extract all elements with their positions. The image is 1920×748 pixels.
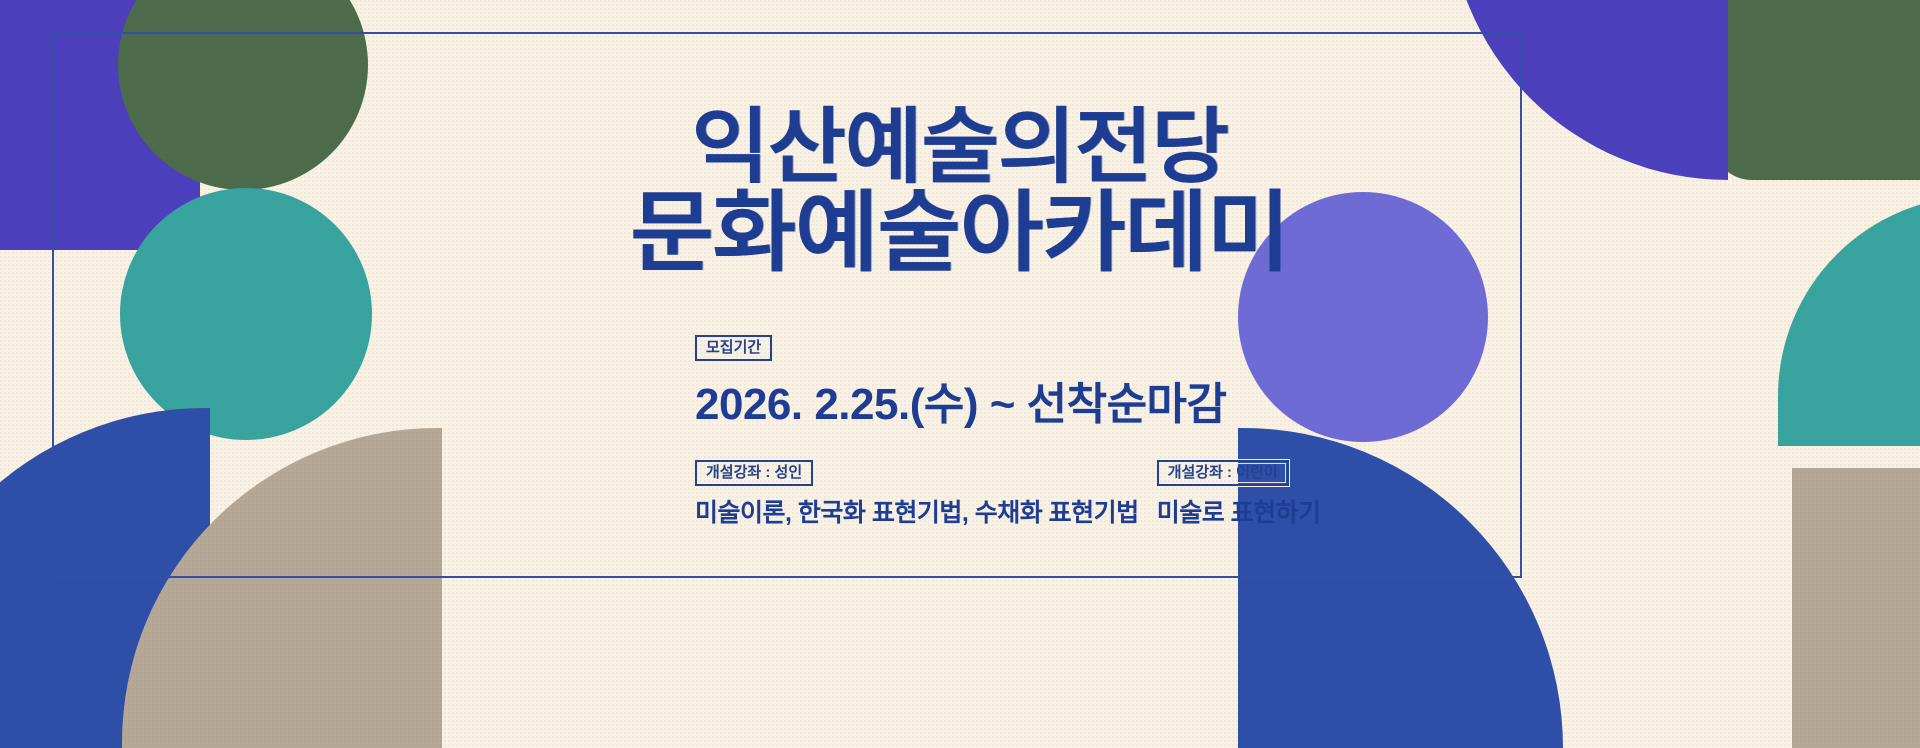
- course-list: 개설강좌 : 성인 미술이론, 한국화 표현기법, 수채화 표현기법 개설강좌 …: [225, 460, 1695, 529]
- course-text-children: 미술로 표현하기: [1157, 493, 1321, 529]
- recruitment-period-date: 2026. 2.25.(수) ~ 선착순마감: [695, 368, 1227, 432]
- course-text-adult: 미술이론, 한국화 표현기법, 수채화 표현기법: [695, 493, 1139, 529]
- course-badge-children: 개설강좌 : 어린이: [1157, 460, 1289, 486]
- course-group-adult: 개설강좌 : 성인 미술이론, 한국화 표현기법, 수채화 표현기법: [695, 460, 1139, 529]
- banner-content: 익산예술의전당 문화예술아카데미 모집기간 2026. 2.25.(수) ~ 선…: [0, 0, 1920, 748]
- course-badge-adult: 개설강좌 : 성인: [695, 460, 813, 486]
- promotional-banner: 익산예술의전당 문화예술아카데미 모집기간 2026. 2.25.(수) ~ 선…: [0, 0, 1920, 748]
- title-line-2: 문화예술아카데미: [631, 190, 1290, 276]
- course-group-children: 개설강좌 : 어린이 미술로 표현하기: [1157, 460, 1321, 529]
- recruitment-period-badge: 모집기간: [695, 335, 772, 361]
- page-title: 익산예술의전당 문화예술아카데미: [640, 108, 1280, 277]
- recruitment-period-block: 모집기간 2026. 2.25.(수) ~ 선착순마감: [225, 335, 1695, 432]
- title-line-1: 익산예술의전당: [631, 108, 1290, 188]
